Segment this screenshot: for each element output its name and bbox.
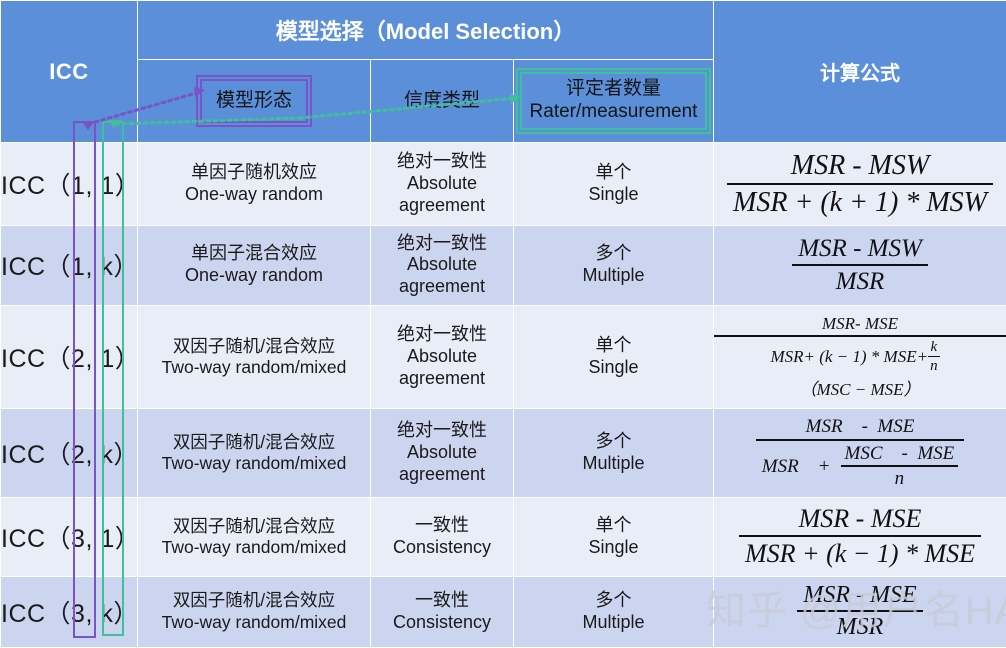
green-dotted-connector-b — [300, 98, 516, 118]
green-index-bracket — [103, 122, 123, 635]
purple-arrowhead-down-icon — [82, 122, 94, 130]
purple-arrowhead-icon — [194, 87, 205, 97]
purple-index-bracket — [74, 122, 95, 637]
watermark: 知乎 @用户名HAO — [706, 578, 1006, 636]
slide-root: ICC 模型选择（Model Selection） 计算公式 模型形态 信度类型… — [0, 0, 1006, 648]
green-dotted-connector-a — [116, 118, 300, 124]
green-arrowhead-icon — [510, 94, 521, 104]
purple-dotted-connector — [88, 92, 200, 124]
annotation-overlay — [0, 0, 1006, 648]
